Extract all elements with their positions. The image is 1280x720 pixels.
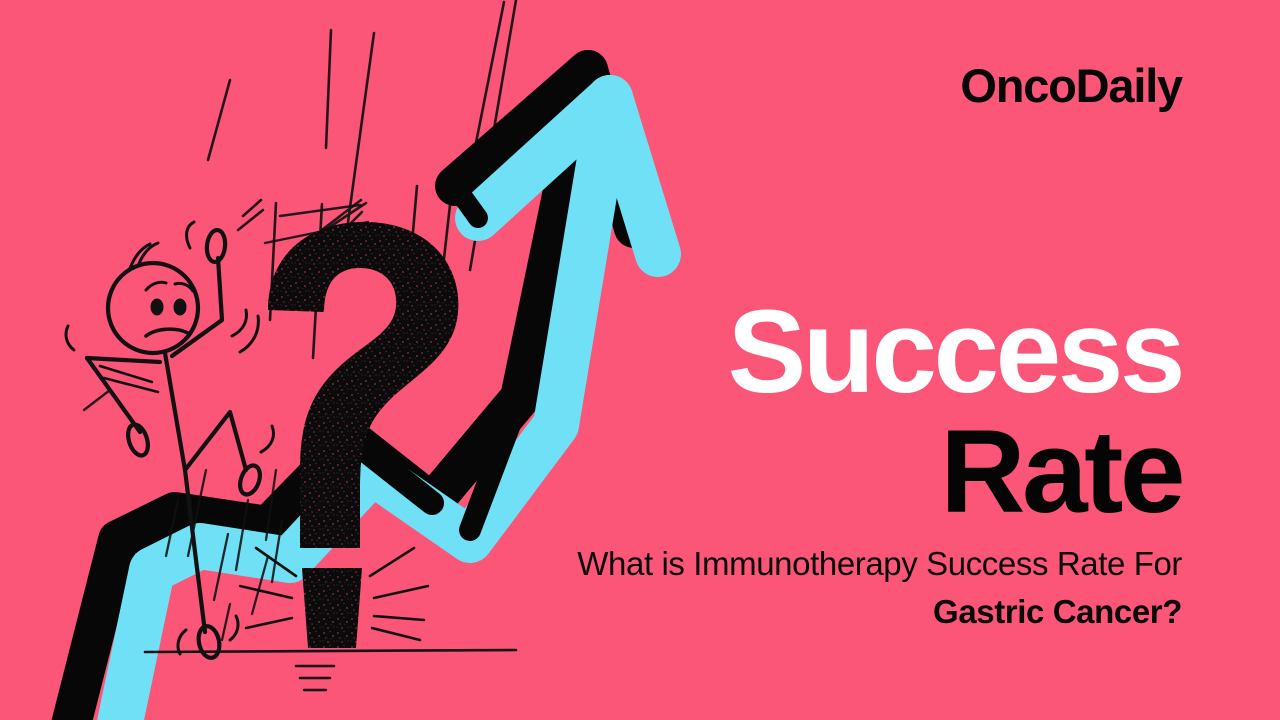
subtitle-lead: What is Immunotherapy Success Rate For — [577, 545, 1182, 582]
page-title: Success Rate — [562, 296, 1182, 528]
subtitle-emphasis: Gastric Cancer? — [933, 593, 1182, 630]
brand-logo: OncoDaily — [960, 62, 1182, 109]
headline-line-2: Rate — [562, 416, 1182, 528]
poster-canvas: OncoDaily Success Rate What is Immunothe… — [0, 0, 1280, 720]
headline-line-1: Success — [562, 296, 1182, 408]
subtitle: What is Immunotherapy Success Rate For G… — [542, 540, 1182, 636]
